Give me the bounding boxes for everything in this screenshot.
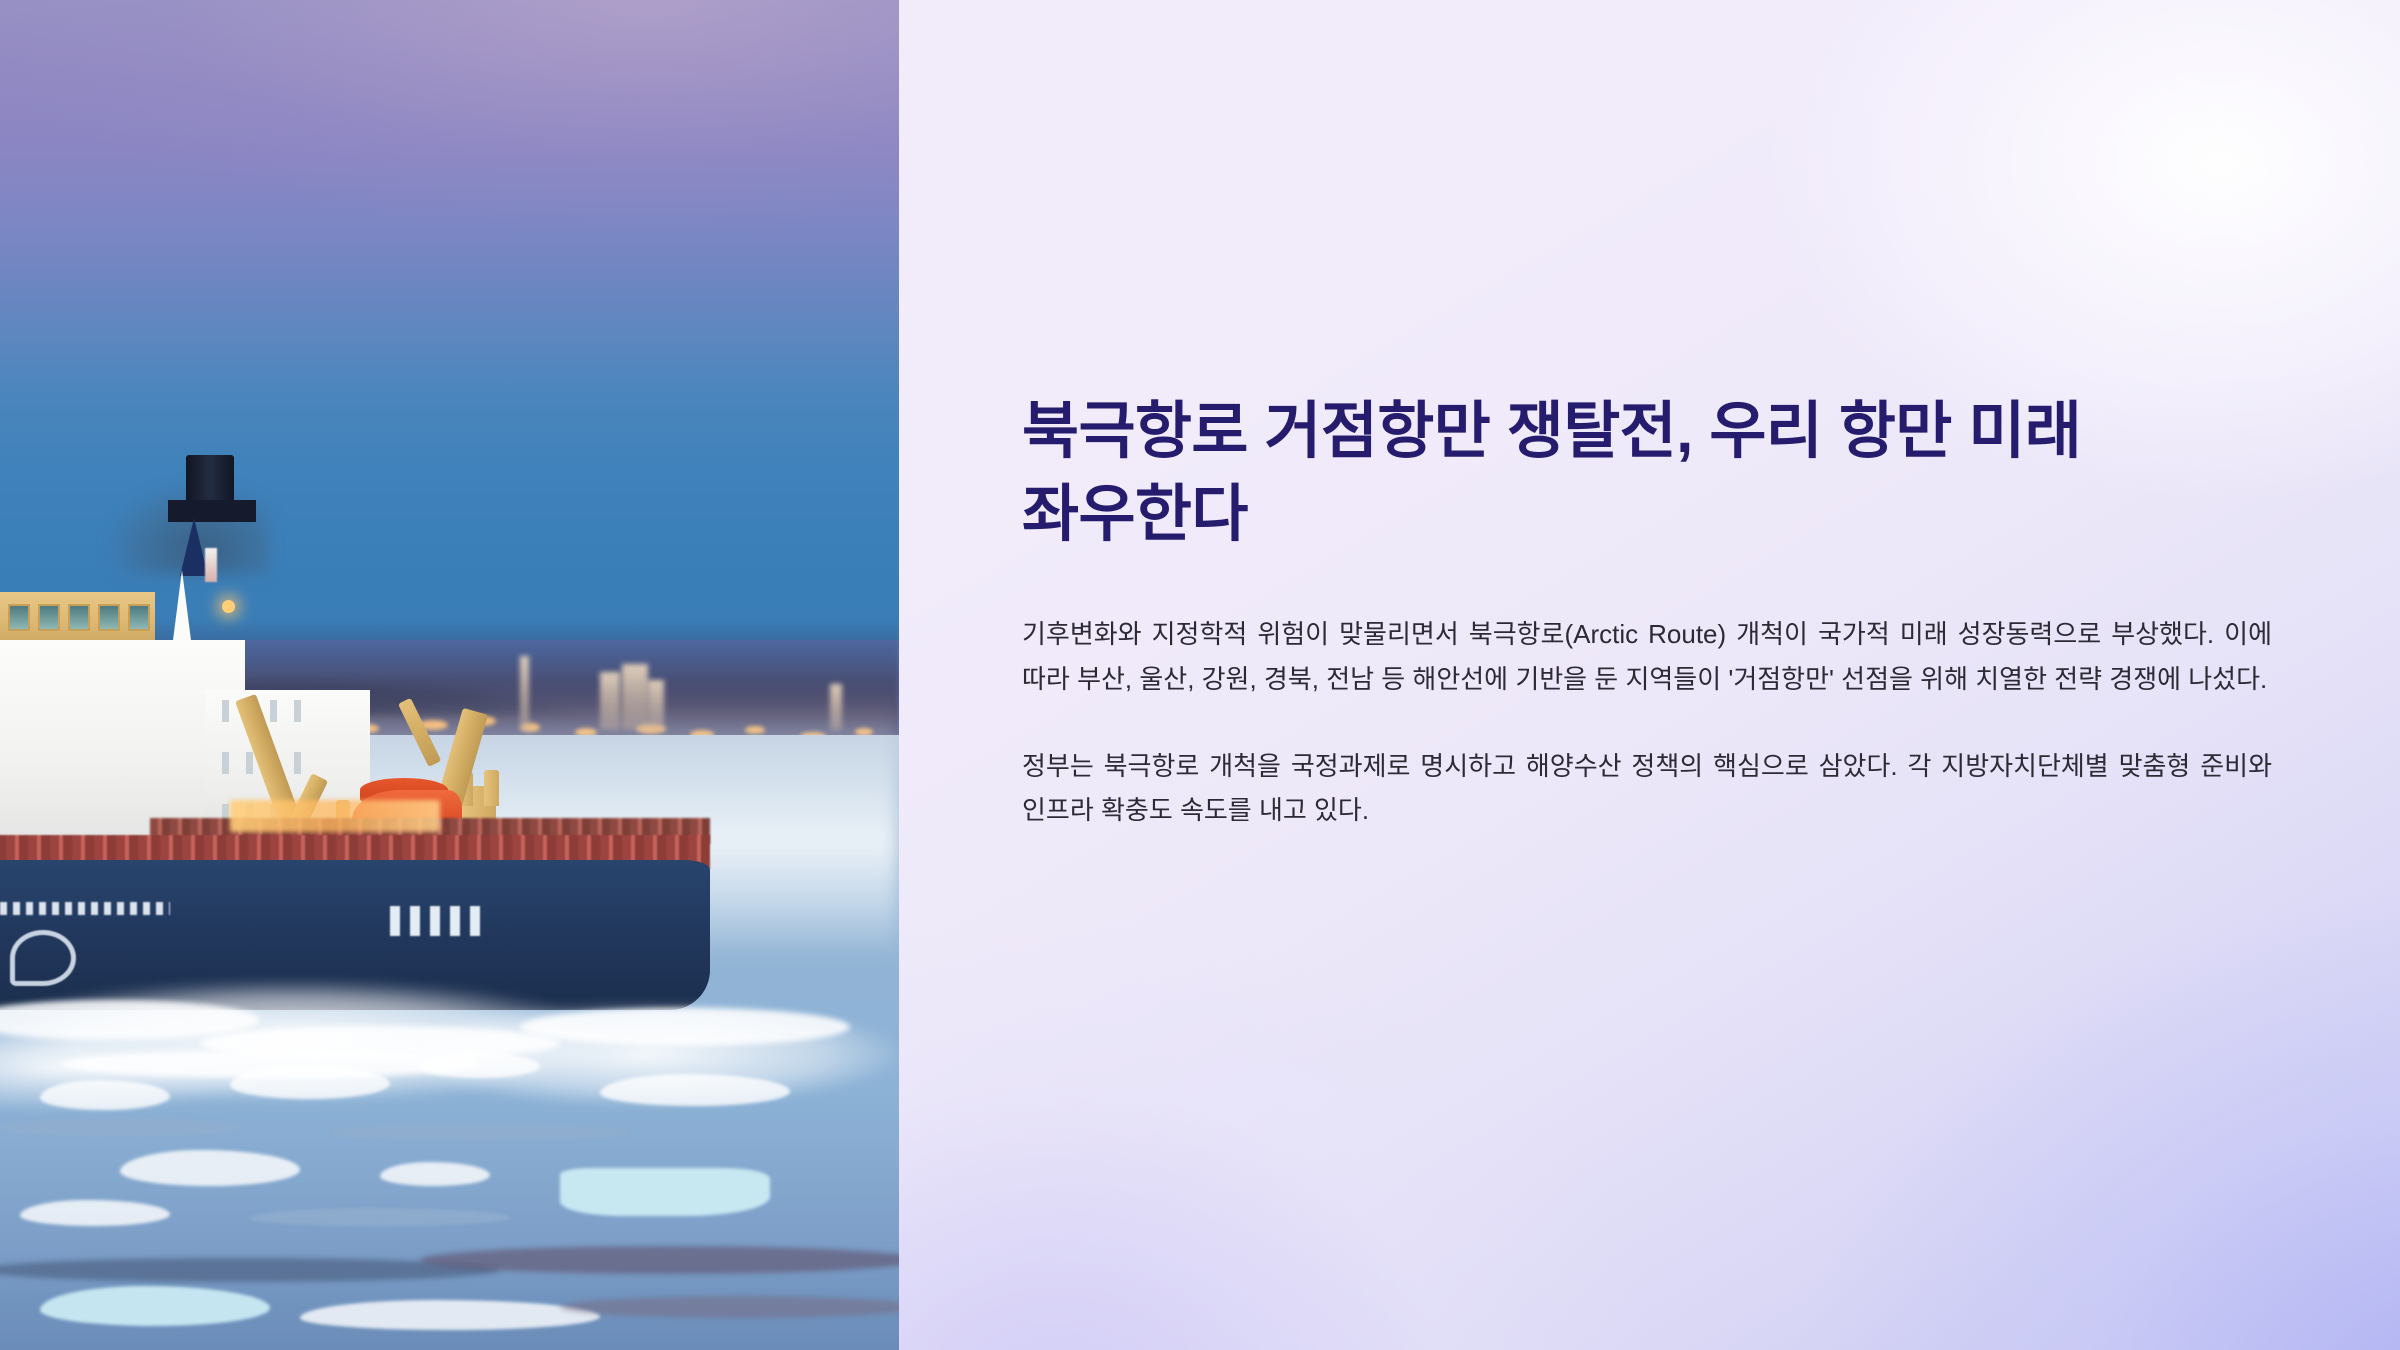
crane-strut	[398, 698, 441, 767]
funnel-smoke	[40, 395, 270, 575]
bridge-window	[8, 604, 30, 631]
deckhouse-window	[246, 752, 253, 774]
icebreaker-ship	[0, 0, 899, 1350]
funnel-emblem	[205, 548, 217, 582]
deck-worklight-glow	[230, 800, 440, 832]
bridge-window	[128, 604, 150, 631]
bridge-window	[68, 604, 90, 631]
hull-name-lettering	[0, 902, 170, 915]
article-content: 북극항로 거점항만 쟁탈전, 우리 항만 미래 좌우한다 기후변화와 지정학적 …	[1022, 390, 2272, 833]
bridge-window	[98, 604, 120, 631]
funnel	[180, 518, 208, 576]
deck-lamp	[222, 600, 235, 613]
article-headline: 북극항로 거점항만 쟁탈전, 우리 항만 미래 좌우한다	[1022, 390, 2272, 556]
spray-streak	[520, 1008, 850, 1046]
bridge-window	[38, 604, 60, 631]
deckhouse-window	[222, 752, 229, 774]
hull-marking	[390, 906, 480, 936]
funnel-base	[172, 570, 192, 648]
hero-photo	[0, 0, 899, 1350]
spray-streak	[60, 1050, 480, 1078]
deckhouse-window	[294, 752, 301, 774]
deckhouse-window	[222, 700, 229, 722]
slide-root: 북극항로 거점항만 쟁탈전, 우리 항만 미래 좌우한다 기후변화와 지정학적 …	[0, 0, 2400, 1350]
deckhouse-window	[294, 700, 301, 722]
article-paragraph-2: 정부는 북극항로 개척을 국정과제로 명시하고 해양수산 정책의 핵심으로 삼았…	[1022, 744, 2272, 833]
deckhouse-window	[270, 700, 277, 722]
crane-pedestal-horn	[484, 770, 499, 806]
article-panel: 북극항로 거점항만 쟁탈전, 우리 항만 미래 좌우한다 기후변화와 지정학적 …	[899, 0, 2400, 1350]
article-paragraph-1: 기후변화와 지정학적 위험이 맞물리면서 북극항로(Arctic Route) …	[1022, 612, 2272, 701]
